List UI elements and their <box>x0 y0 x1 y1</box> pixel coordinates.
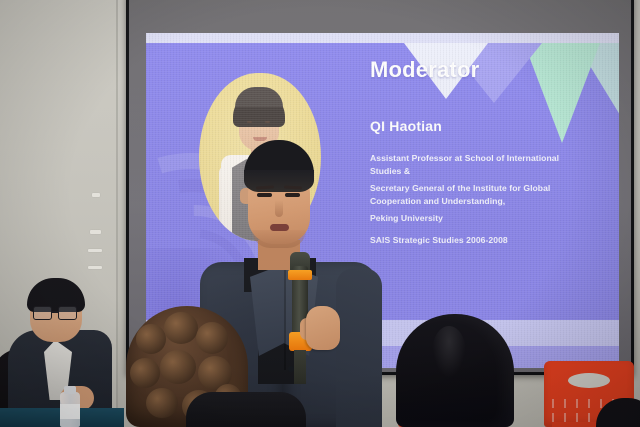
hair-curl <box>196 322 228 354</box>
hair-curl <box>130 358 160 388</box>
wall-marker <box>88 249 102 252</box>
slide-top-band <box>146 33 619 43</box>
slide-footer-text: SAIS Strategic Studies 2006-2008 <box>370 235 508 245</box>
portrait-hair-top <box>235 87 283 107</box>
glasses-icon <box>33 306 81 320</box>
wall-marker <box>90 230 101 234</box>
hair-curl <box>164 312 198 344</box>
speaker-arm-right <box>336 268 382 427</box>
wall-marker <box>92 193 100 197</box>
audience-right-hair-highlight <box>432 326 466 378</box>
slide-affiliation-line-1: Assistant Professor at School of Interna… <box>370 152 606 177</box>
speaker-hair-fade <box>244 170 314 192</box>
hair-curl <box>160 350 196 384</box>
audience-center-right-shoulder <box>186 392 306 427</box>
slide-presenter-name: QI Haotian <box>370 118 442 134</box>
glasses-lens <box>58 306 77 320</box>
bottle-label <box>60 404 80 419</box>
slide-affiliation-line-2: Secretary General of the Institute for G… <box>370 182 606 207</box>
bottle-cap <box>64 386 76 394</box>
slide-affiliation-block: Assistant Professor at School of Interna… <box>370 152 606 230</box>
wall-marker <box>88 266 102 269</box>
chair-handle <box>568 373 610 388</box>
slide-affiliation-line-3: Peking University <box>370 212 606 225</box>
speaker-mouth <box>270 224 289 231</box>
slide-affiliation-text: Cooperation and Understanding, <box>370 196 505 206</box>
water-bottle <box>60 392 80 427</box>
wall-seam <box>116 0 118 427</box>
microphone-ring-top <box>288 270 312 280</box>
speaker-jacket-seam <box>284 270 286 370</box>
speaker-eye <box>257 193 272 197</box>
slide-affiliation-text: Assistant Professor at School of Interna… <box>370 153 559 163</box>
microphone-handle-end <box>294 350 306 384</box>
portrait-eye <box>265 121 270 123</box>
photo-scene: Moderator QI Haotian Assistant Professor… <box>0 0 640 427</box>
hair-curl <box>146 388 178 418</box>
slide-title: Moderator <box>370 57 479 83</box>
portrait-eye <box>247 121 252 123</box>
glasses-lens <box>33 306 52 320</box>
speaker-hand <box>306 306 340 350</box>
speaker-nose <box>275 200 283 217</box>
slide-affiliation-text: Secretary General of the Institute for G… <box>370 183 550 193</box>
speaker-eye <box>285 193 300 197</box>
hair-curl <box>136 324 166 354</box>
